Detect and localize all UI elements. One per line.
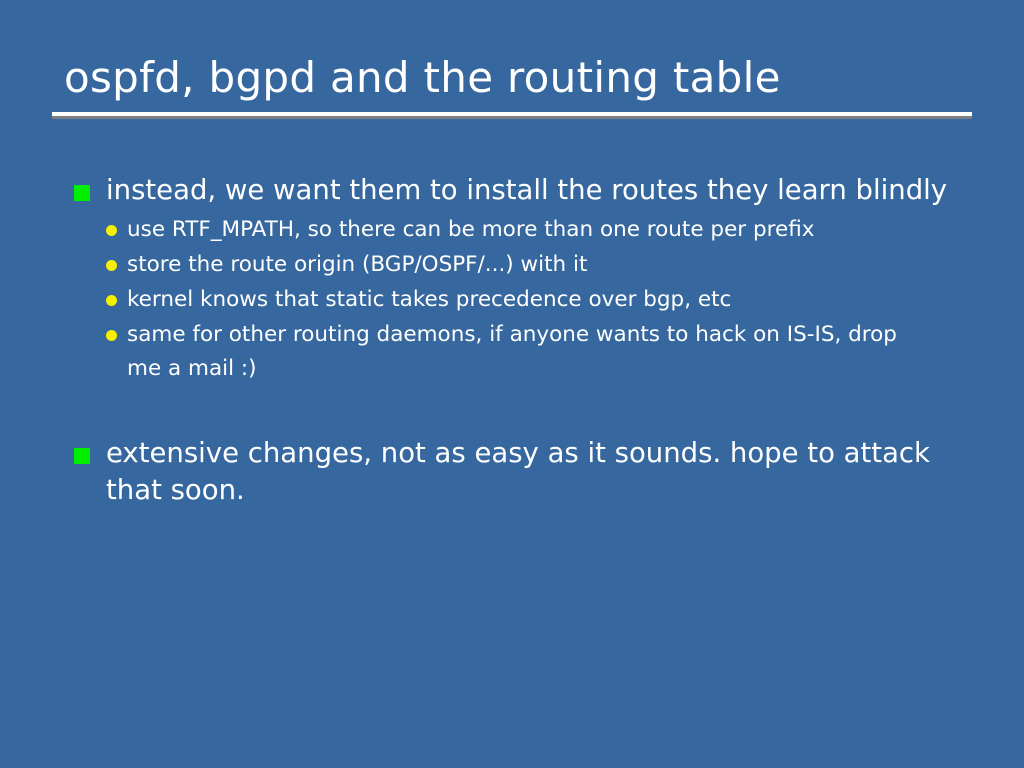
- title-rule-shadow: [52, 116, 972, 119]
- title-divider: [52, 112, 972, 119]
- bullet-text-level2: kernel knows that static takes precedenc…: [127, 283, 937, 317]
- slide-body: instead, we want them to install the rou…: [72, 172, 972, 511]
- dot-bullet-icon: [106, 330, 117, 341]
- slide-title-block: ospfd, bgpd and the routing table: [52, 52, 972, 119]
- page-title: ospfd, bgpd and the routing table: [52, 52, 972, 104]
- bullet-item-level2: kernel knows that static takes precedenc…: [104, 283, 972, 317]
- bullet-text-level1: instead, we want them to install the rou…: [106, 172, 956, 209]
- square-bullet-icon: [74, 185, 90, 201]
- bullet-item-level2: store the route origin (BGP/OSPF/...) wi…: [104, 248, 972, 282]
- sub-bullet-list: use RTF_MPATH, so there can be more than…: [72, 213, 972, 386]
- square-bullet-icon: [74, 448, 90, 464]
- bullet-item-level2: same for other routing daemons, if anyon…: [104, 318, 972, 386]
- bullet-text-level2: same for other routing daemons, if anyon…: [127, 318, 937, 386]
- bullet-item-level1: extensive changes, not as easy as it sou…: [72, 435, 972, 509]
- bullet-item-level2: use RTF_MPATH, so there can be more than…: [104, 213, 972, 247]
- dot-bullet-icon: [106, 225, 117, 236]
- slide-canvas: ospfd, bgpd and the routing table instea…: [0, 0, 1024, 768]
- bullet-text-level2: use RTF_MPATH, so there can be more than…: [127, 213, 937, 247]
- dot-bullet-icon: [106, 260, 117, 271]
- bullet-text-level2: store the route origin (BGP/OSPF/...) wi…: [127, 248, 937, 282]
- dot-bullet-icon: [106, 295, 117, 306]
- bullet-item-level1: instead, we want them to install the rou…: [72, 172, 972, 209]
- bullet-text-level1: extensive changes, not as easy as it sou…: [106, 435, 956, 509]
- block-spacer: [72, 387, 972, 435]
